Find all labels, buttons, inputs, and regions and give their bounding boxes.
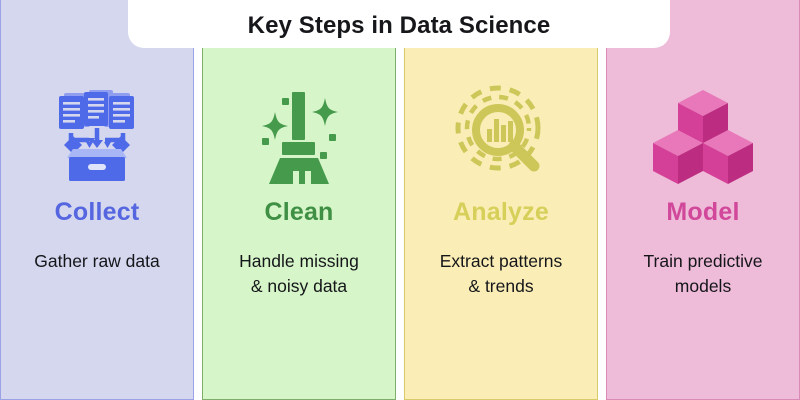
step-caption-analyze: Extract patterns & trends — [413, 249, 590, 300]
step-title-analyze: Analyze — [453, 200, 549, 225]
step-caption-collect: Gather raw data — [9, 249, 186, 274]
step-panel-clean: Clean Handle missing & noisy data — [202, 0, 396, 400]
step-panel-model: Model Train predictive models — [606, 0, 800, 400]
step-title-clean: Clean — [264, 200, 333, 225]
infographic-root: Collect Gather raw data — [0, 0, 800, 400]
steps-container: Collect Gather raw data — [0, 0, 800, 400]
step-panel-analyze: Analyze Extract patterns & trends — [404, 0, 598, 400]
stacked-cubes-icon — [648, 78, 758, 188]
step-caption-clean: Handle missing & noisy data — [211, 249, 388, 300]
page-title: Key Steps in Data Science — [248, 14, 551, 38]
magnifier-barchart-icon — [446, 78, 556, 188]
step-caption-model: Train predictive models — [615, 249, 792, 300]
documents-into-box-icon — [42, 78, 152, 188]
step-panel-collect: Collect Gather raw data — [0, 0, 194, 400]
step-title-model: Model — [666, 200, 739, 225]
broom-sparkle-icon — [244, 78, 354, 188]
title-card: Key Steps in Data Science — [128, 0, 670, 48]
step-title-collect: Collect — [55, 200, 140, 225]
